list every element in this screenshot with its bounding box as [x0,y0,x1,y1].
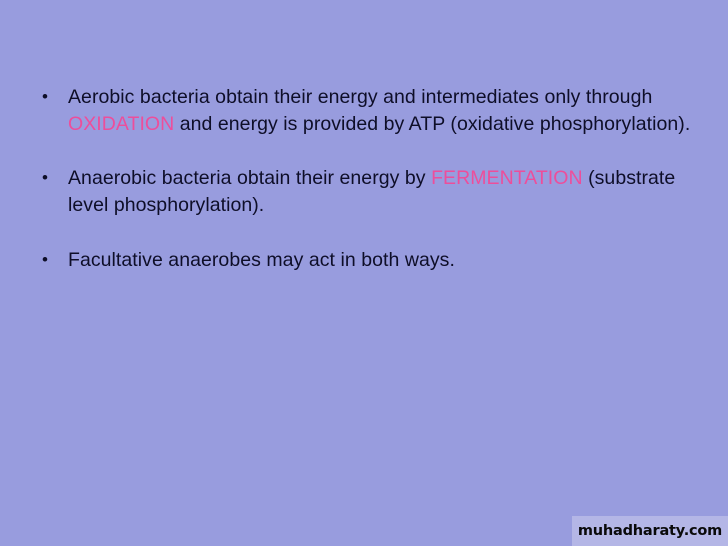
bullet-1-highlight-oxidation: OXIDATION [68,113,174,135]
bullet-text-3: Facultative anaerobes may act in both wa… [60,247,696,274]
bullet-dot-icon: • [36,247,60,274]
bullet-2-highlight-fermentation: FERMENTATION [431,167,583,189]
slide-canvas: • Aerobic bacteria obtain their energy a… [0,0,728,546]
watermark-label: muhadharaty.com [578,523,722,539]
bullet-1-segment-normal-b: and energy is provided by ATP (oxidative… [174,113,690,135]
list-item: • Facultative anaerobes may act in both … [36,247,696,274]
bullet-1-segment-normal-a: Aerobic bacteria obtain their energy and… [68,86,652,108]
list-item: • Aerobic bacteria obtain their energy a… [36,84,696,137]
bullet-text-1: Aerobic bacteria obtain their energy and… [60,84,696,137]
watermark-band: muhadharaty.com [572,516,728,546]
bullet-text-2: Anaerobic bacteria obtain their energy b… [60,165,696,218]
bullet-dot-icon: • [36,165,60,192]
bullet-2-segment-normal-a: Anaerobic bacteria obtain their energy b… [68,167,431,189]
slide-body-content: • Aerobic bacteria obtain their energy a… [36,84,696,274]
bullet-dot-icon: • [36,84,60,111]
list-item: • Anaerobic bacteria obtain their energy… [36,165,696,218]
bullet-3-segment-normal-a: Facultative anaerobes may act in both wa… [68,249,455,271]
